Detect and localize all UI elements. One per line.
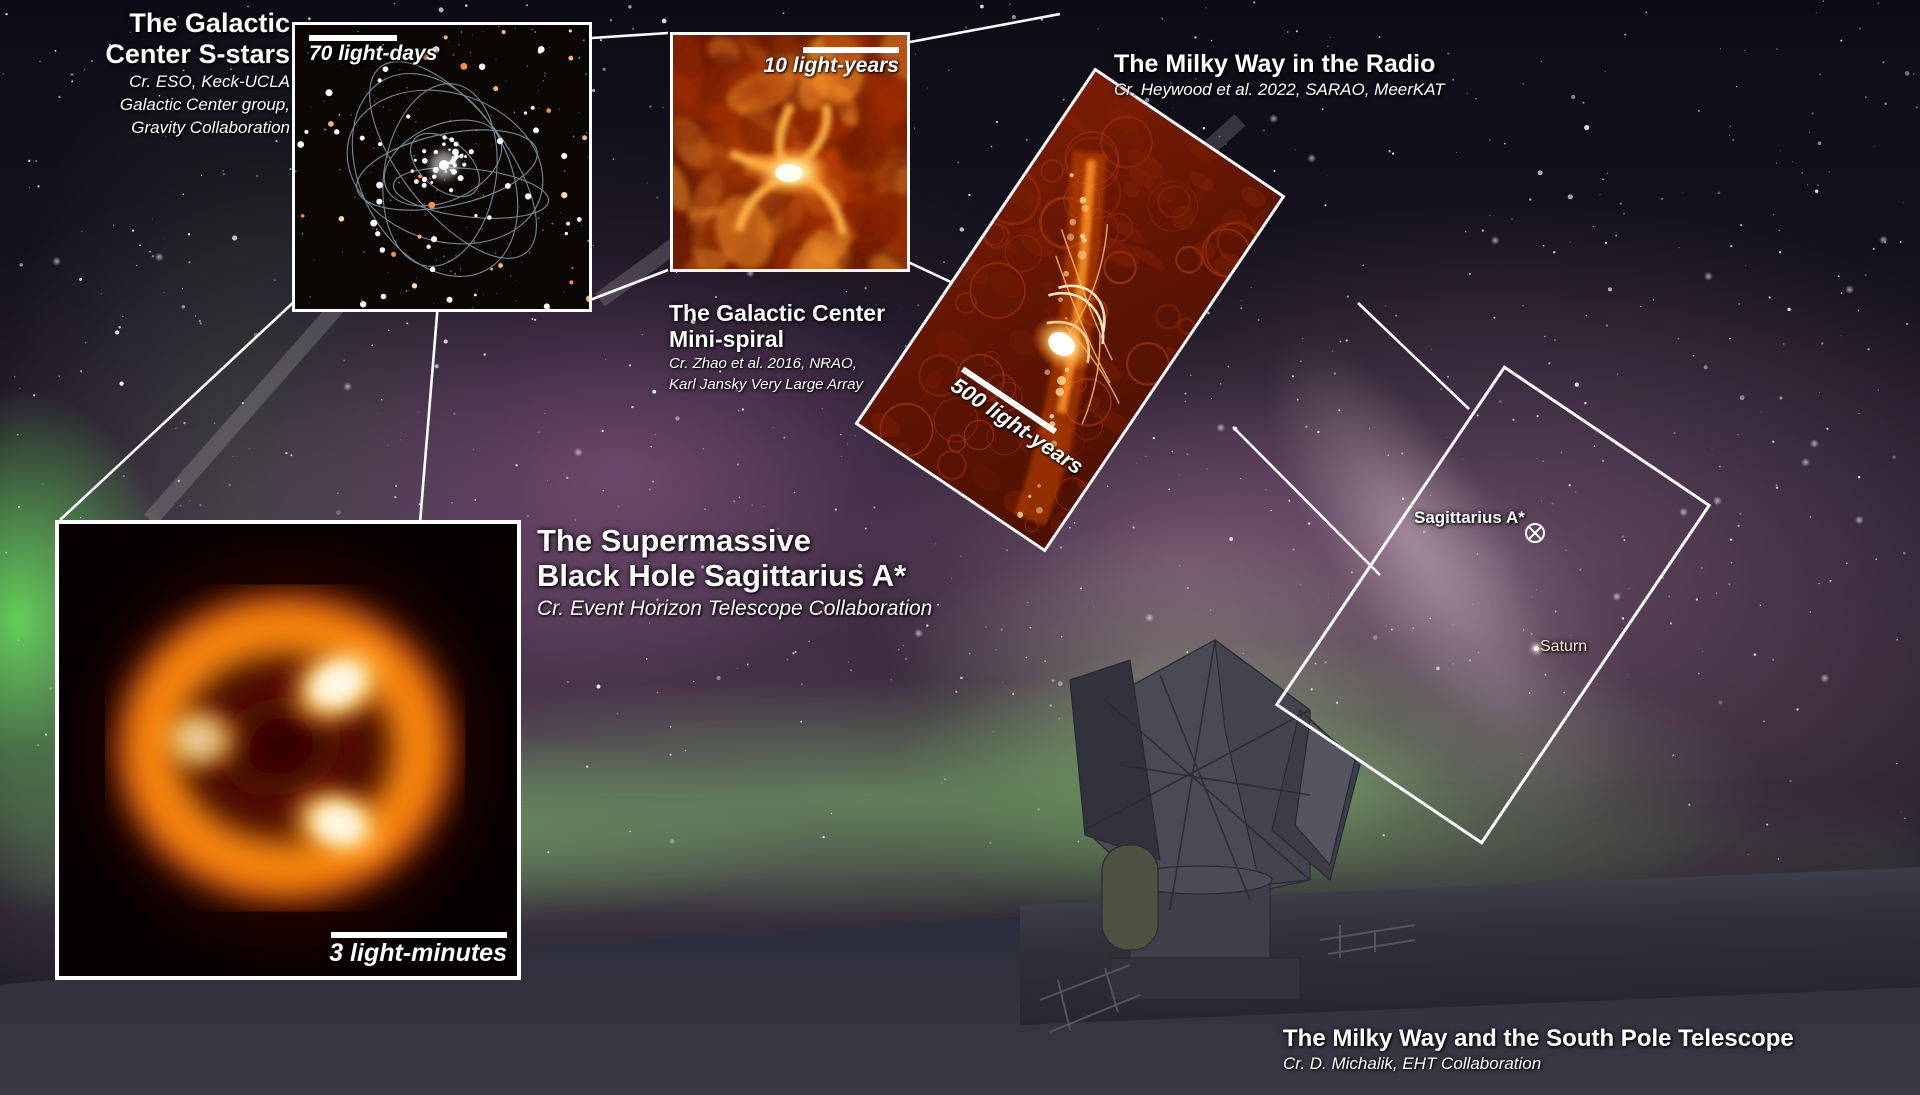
caption-s-stars-credit-line2: Galactic Center group, (60, 95, 290, 115)
caption-mini-spiral-title-line2: Mini-spiral (669, 326, 969, 352)
caption-radio-credit: Cr. Heywood et al. 2022, SARAO, MeerKAT (1114, 80, 1534, 100)
scale-label-mini-spiral: 10 light-years (764, 55, 899, 77)
poster-canvas: 70 light-days (0, 0, 1920, 1095)
caption-mini-spiral-credit-line2: Karl Jansky Very Large Array (669, 376, 969, 394)
scale-bar-eht: 3 light-minutes (329, 932, 507, 966)
caption-background-photo: The Milky Way and the South Pole Telesco… (1283, 1025, 1913, 1074)
panel-galactic-center-mini-spiral[interactable]: 10 light-years (670, 32, 910, 272)
caption-s-stars: The Galactic Center S-stars Cr. ESO, Kec… (60, 8, 290, 138)
scale-bar-s-stars: 70 light-days (309, 35, 437, 65)
scale-label-eht: 3 light-minutes (329, 940, 507, 966)
caption-s-stars-credit-line1: Cr. ESO, Keck-UCLA (60, 72, 290, 92)
caption-eht-title-line2: Black Hole Sagittarius A* (537, 558, 1007, 593)
caption-s-stars-title-line1: The Galactic (60, 8, 290, 39)
panel-galactic-center-s-stars[interactable]: 70 light-days (292, 22, 592, 312)
caption-milky-way-radio: The Milky Way in the Radio Cr. Heywood e… (1114, 50, 1534, 100)
panel-eht-sagittarius-a-star[interactable]: 3 light-minutes (55, 520, 521, 980)
sagittarius-a-star-marker-icon (1524, 522, 1546, 544)
caption-background-credit: Cr. D. Michalik, EHT Collaboration (1283, 1054, 1913, 1074)
saturn-label: Saturn (1540, 638, 1587, 656)
saturn-point-icon (1534, 646, 1539, 651)
caption-background-title: The Milky Way and the South Pole Telesco… (1283, 1025, 1913, 1052)
caption-eht-title-line1: The Supermassive (537, 523, 1007, 558)
sagittarius-a-star-label: Sagittarius A* (1414, 508, 1525, 528)
caption-s-stars-title-line2: Center S-stars (60, 39, 290, 70)
caption-eht-credit: Cr. Event Horizon Telescope Collaboratio… (537, 597, 1007, 622)
caption-radio-title: The Milky Way in the Radio (1114, 50, 1534, 78)
caption-mini-spiral-credit-line1: Cr. Zhao et al. 2016, NRAO, (669, 355, 969, 373)
caption-s-stars-credit-line3: Gravity Collaboration (60, 118, 290, 138)
caption-eht-black-hole: The Supermassive Black Hole Sagittarius … (537, 523, 1007, 622)
caption-mini-spiral: The Galactic Center Mini-spiral Cr. Zhao… (669, 300, 969, 393)
scale-label-s-stars: 70 light-days (309, 43, 437, 65)
caption-mini-spiral-title-line1: The Galactic Center (669, 300, 969, 326)
scale-bar-mini-spiral: 10 light-years (764, 47, 899, 77)
